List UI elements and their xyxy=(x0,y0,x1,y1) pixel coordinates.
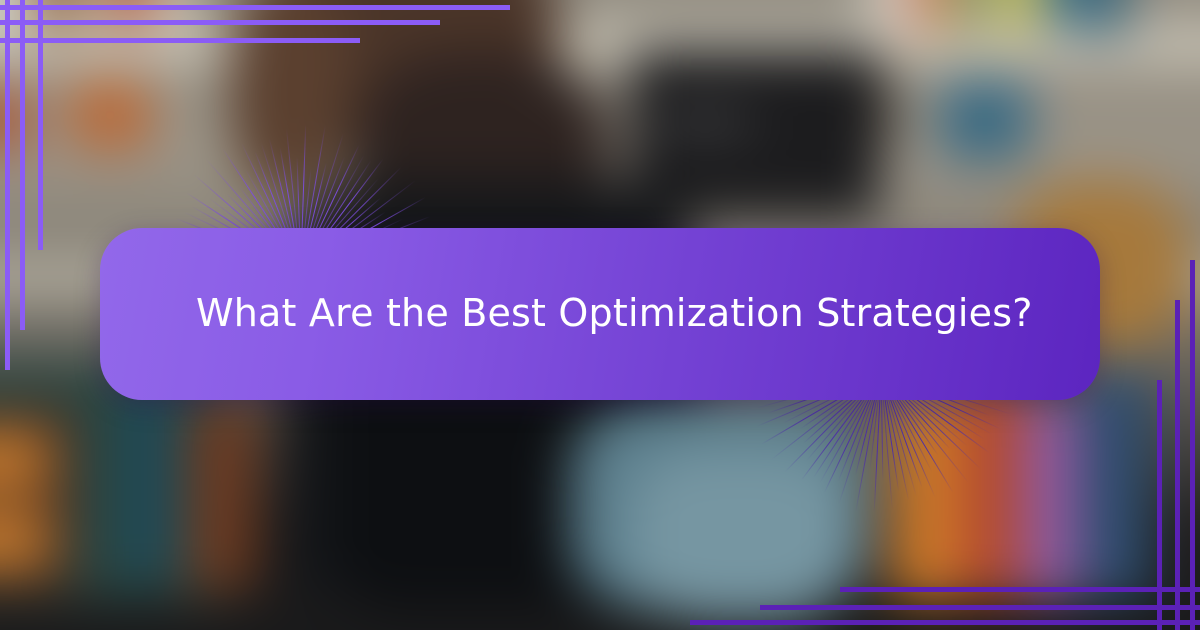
title-banner: What Are the Best Optimization Strategie… xyxy=(100,228,1100,400)
background-blob xyxy=(908,0,934,30)
page-title: What Are the Best Optimization Strategie… xyxy=(100,291,1129,337)
background-blob xyxy=(1042,0,1088,30)
background-blob xyxy=(630,450,850,620)
background-blob xyxy=(972,0,996,26)
background-blob xyxy=(154,0,180,30)
background-blob xyxy=(38,0,78,30)
og-image-canvas: What Are the Best Optimization Strategie… xyxy=(0,0,1200,630)
background-blob xyxy=(0,510,50,570)
background-blob xyxy=(1000,0,1038,32)
background-blob xyxy=(70,80,150,150)
background-blob xyxy=(114,0,150,28)
background-blob xyxy=(1092,0,1126,36)
background-blob xyxy=(230,0,350,200)
background-blob xyxy=(630,50,880,220)
background-blob xyxy=(0,90,30,150)
background-blob xyxy=(185,400,255,590)
background-blob xyxy=(870,0,904,30)
background-blob xyxy=(0,0,34,28)
background-blob xyxy=(1080,370,1150,600)
background-blob xyxy=(960,380,1020,600)
background-blob xyxy=(80,0,110,32)
background-blob xyxy=(1020,400,1080,600)
background-blob xyxy=(890,400,960,600)
background-blob xyxy=(940,80,1030,160)
background-blob xyxy=(0,430,50,490)
background-blob xyxy=(660,115,750,129)
background-blob xyxy=(938,0,968,34)
